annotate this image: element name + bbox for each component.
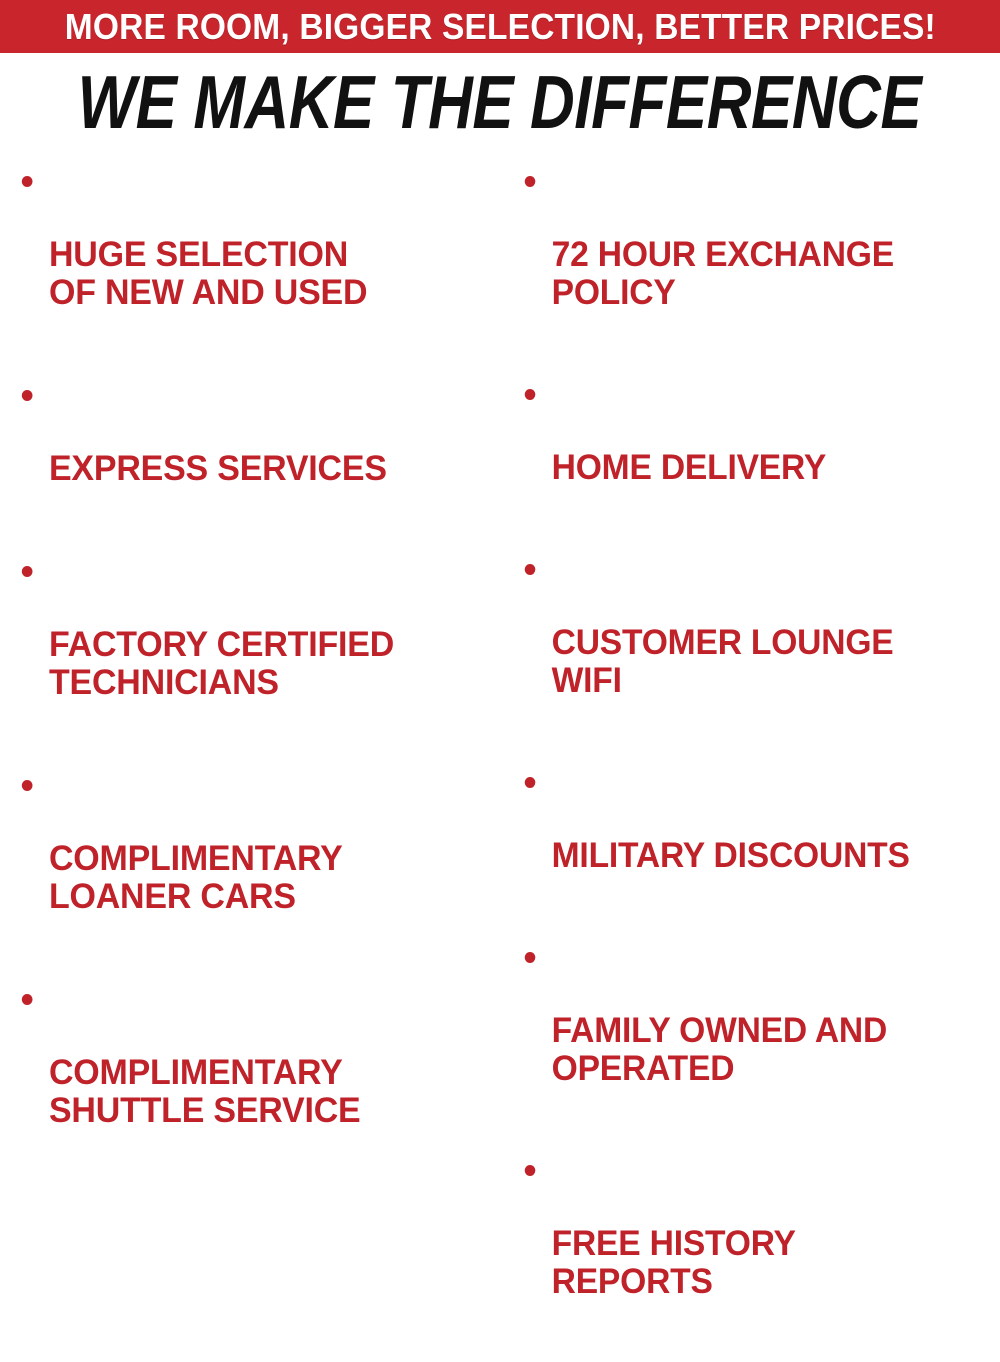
list-item-label: HOME DELIVERY (552, 449, 981, 487)
list-item-label: 72 HOUR EXCHANGE POLICY (552, 236, 981, 312)
bullet-dot-icon (22, 780, 33, 791)
list-item: HUGE SELECTION OF NEW AND USED (16, 160, 490, 350)
list-item-label: COMPLIMENTARY SHUTTLE SERVICE (49, 1054, 490, 1130)
list-item-label: FAMILY OWNED AND OPERATED (552, 1012, 981, 1088)
list-item-label: CUSTOMER LOUNGE WIFI (552, 624, 981, 700)
benefits-column-right: 72 HOUR EXCHANGE POLICY HOME DELIVERY CU… (505, 160, 1000, 1362)
list-item-label: EXPRESS SERVICES (49, 450, 490, 488)
list-item: FREE HISTORY REPORTS (519, 1149, 981, 1339)
benefits-column-left: HUGE SELECTION OF NEW AND USED EXPRESS S… (0, 160, 505, 1192)
dealership-benefits-poster: MORE ROOM, BIGGER SELECTION, BETTER PRIC… (0, 0, 1000, 694)
list-item-label: FACTORY CERTIFIED TECHNICIANS (49, 626, 490, 702)
list-item: FAMILY OWNED AND OPERATED (519, 936, 981, 1126)
list-item-label: FREE HISTORY REPORTS (552, 1225, 981, 1301)
bullet-dot-icon (525, 777, 536, 788)
list-item: MILITARY DISCOUNTS (519, 761, 981, 913)
page-title: WE MAKE THE DIFFERENCE (78, 66, 922, 141)
bullet-dot-icon (22, 176, 33, 187)
list-item: CUSTOMER LOUNGE WIFI (519, 548, 981, 738)
bullet-dot-icon (525, 564, 536, 575)
bullet-dot-icon (22, 390, 33, 401)
bullet-dot-icon (22, 994, 33, 1005)
bullet-dot-icon (525, 389, 536, 400)
list-item: COMPLIMENTARY LOANER CARS (16, 764, 490, 954)
promo-banner-text: MORE ROOM, BIGGER SELECTION, BETTER PRIC… (64, 9, 935, 45)
bullet-dot-icon (525, 1165, 536, 1176)
list-item-label: HUGE SELECTION OF NEW AND USED (49, 236, 490, 312)
benefits-list-left: HUGE SELECTION OF NEW AND USED EXPRESS S… (16, 160, 505, 1168)
bullet-dot-icon (525, 952, 536, 963)
top-promo-banner: MORE ROOM, BIGGER SELECTION, BETTER PRIC… (0, 0, 1000, 53)
list-item: HOME DELIVERY (519, 373, 981, 525)
list-item-label: COMPLIMENTARY LOANER CARS (49, 840, 490, 916)
list-item-label: MILITARY DISCOUNTS (552, 837, 981, 875)
list-item: EXPRESS SERVICES (16, 374, 490, 526)
benefits-list-right: 72 HOUR EXCHANGE POLICY HOME DELIVERY CU… (519, 160, 1000, 1339)
bullet-dot-icon (22, 566, 33, 577)
list-item: COMPLIMENTARY SHUTTLE SERVICE (16, 978, 490, 1168)
list-item: 72 HOUR EXCHANGE POLICY (519, 160, 981, 350)
bullet-dot-icon (525, 176, 536, 187)
headline-container: WE MAKE THE DIFFERENCE (0, 62, 1000, 144)
benefits-columns: HUGE SELECTION OF NEW AND USED EXPRESS S… (0, 160, 1000, 694)
list-item: FACTORY CERTIFIED TECHNICIANS (16, 550, 490, 740)
